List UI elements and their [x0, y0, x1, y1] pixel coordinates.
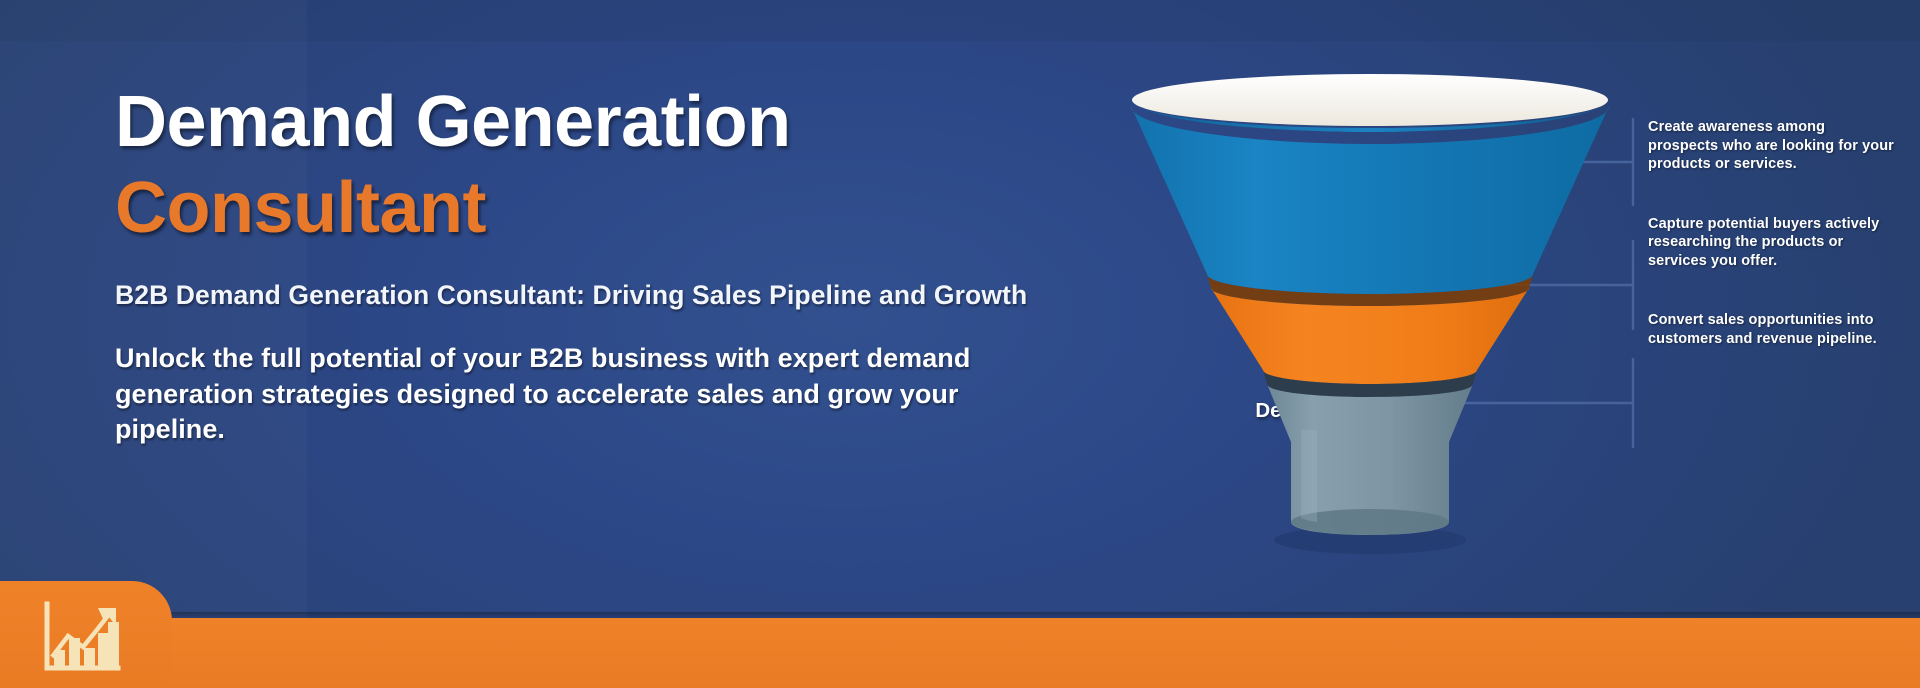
bar-chart-growth-icon	[38, 600, 124, 676]
demand-funnel-graphic	[1105, 70, 1635, 560]
hero-subtitle: B2B Demand Generation Consultant: Drivin…	[115, 280, 1045, 311]
funnel-stem-highlight	[1301, 430, 1317, 522]
hero-banner: Demand Generation Consultant B2B Demand …	[0, 0, 1920, 688]
hero-lead-paragraph: Unlock the full potential of your B2B bu…	[115, 341, 1015, 449]
page-title-line1: Demand Generation	[115, 88, 1045, 158]
funnel-annotations: Create awareness among prospects who are…	[1648, 118, 1898, 348]
page-title-line2: Consultant	[115, 174, 1045, 244]
funnel-top-opening	[1132, 74, 1608, 126]
funnel-stage-creation	[1131, 106, 1609, 294]
hero-copy: Demand Generation Consultant B2B Demand …	[115, 88, 1045, 448]
annotation-demand-conversion: Convert sales opportunities into custome…	[1648, 311, 1898, 348]
annotation-demand-creation: Create awareness among prospects who are…	[1648, 118, 1898, 174]
footer-bar	[0, 618, 1920, 688]
annotation-demand-capture: Capture potential buyers actively resear…	[1648, 215, 1898, 271]
